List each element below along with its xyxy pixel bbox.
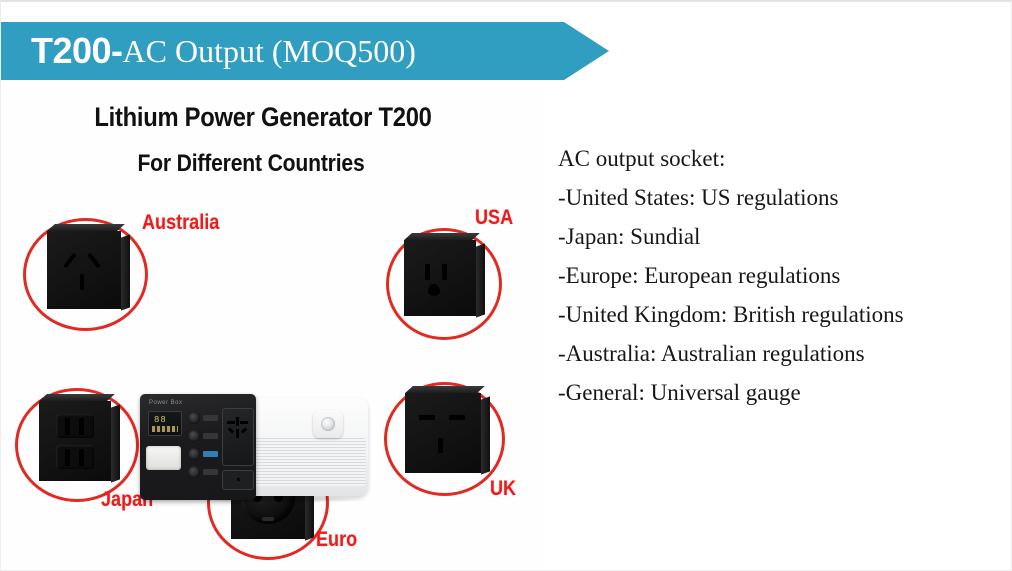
device-usbc-port[interactable] [188,448,200,460]
caption-uk: UK [490,477,516,501]
uk-earth-slot [438,438,443,453]
plate-side-edge [121,234,130,310]
device-universal-ac-socket[interactable] [222,408,254,466]
device-brand-label: Power Box [149,400,183,406]
jp-slot [79,449,84,466]
header-banner: T200- AC Output (MOQ500) [1,22,609,80]
spec-text-block: AC output socket: -United States: US reg… [558,142,1008,415]
device-port-label-active [203,451,218,457]
device-usb-port[interactable] [188,430,200,442]
au-neutral-slot [87,253,101,269]
device-port-cluster [186,410,220,490]
device-aux-port[interactable] [188,466,200,478]
plate-top-edge [39,394,115,401]
plate-top-edge [404,233,480,240]
au-live-slot [63,253,77,269]
banner-model: T200- [31,30,123,72]
device-front-panel: Power Box 88 [140,394,256,500]
uk-neutral-slot [449,415,465,420]
caption-usa: USA [475,206,513,230]
plate-side-edge [476,243,485,317]
device-port-label [203,415,218,421]
us-neutral-slot [442,264,447,280]
spec-line: -Japan: Sundial [558,220,1008,253]
socket-uk [405,393,481,473]
photo-headline: Lithium Power Generator T200 [32,102,493,133]
photo-subheadline: For Different Countries [31,150,471,178]
jp-upper-receptacle [56,414,94,438]
plate-top-edge [47,224,125,231]
device-lcd-value: 88 [154,415,167,425]
device-port-label [203,433,218,439]
socket-japan [39,401,111,481]
spec-line: -United States: US regulations [558,181,1008,214]
socket-usa [404,240,476,316]
device-shadow [198,496,368,503]
spec-line: -Europe: European regulations [558,259,1008,292]
plate-side-edge [481,396,490,474]
caption-euro: Euro [316,528,357,552]
us-live-slot [425,264,430,280]
jp-slot [65,418,70,435]
device-dc-port[interactable] [188,412,200,424]
spec-line: -General: Universal gauge [558,376,1008,409]
spec-line: -Australia: Australian regulations [558,337,1008,370]
device-led-lamp [146,446,181,470]
caption-australia: Australia [142,211,219,235]
au-earth-slot [80,274,84,290]
jp-slot [65,449,70,466]
banner-text: T200- AC Output (MOQ500) [31,22,416,80]
device-lcd-bargraph [152,426,178,432]
universal-socket-slots [227,417,248,438]
jp-lower-receptacle [56,445,94,469]
spec-heading: AC output socket: [558,142,1008,175]
slide-page: T200- AC Output (MOQ500) Lithium Power G… [0,0,1012,571]
device-power-button-panel[interactable] [222,470,254,490]
uk-live-slot [419,415,435,420]
eu-earth-clip-bottom [262,517,274,521]
plate-side-edge [111,404,120,482]
device-port-label [203,469,218,475]
device-lcd-screen: 88 [148,411,182,436]
banner-title: AC Output (MOQ500) [123,33,416,70]
plate-top-edge [405,386,485,393]
socket-australia [47,231,121,309]
device-side-light-knob [313,410,343,438]
power-station-device: Power Box 88 [140,394,368,502]
product-photo: Lithium Power Generator T200 For Differe… [1,88,546,568]
us-ground-hole [428,284,440,296]
jp-slot [79,418,84,435]
spec-line: -United Kingdom: British regulations [558,298,1008,331]
